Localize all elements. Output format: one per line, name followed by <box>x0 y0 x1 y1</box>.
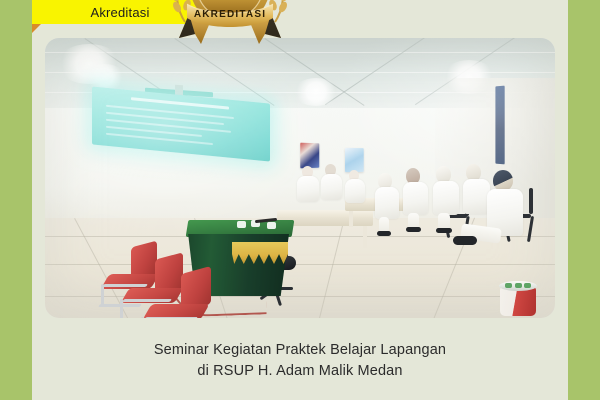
doorway <box>495 86 504 165</box>
seminar-photo <box>45 38 555 318</box>
ceiling-light <box>85 64 125 90</box>
ceiling-light <box>293 78 339 106</box>
participant-head <box>493 170 513 191</box>
wall-poster <box>300 143 319 169</box>
accreditation-seal: SEKALI AKREDITASI <box>155 0 305 50</box>
waste-bin <box>500 281 536 316</box>
wall-poster <box>345 148 364 172</box>
caption-line-1: Seminar Kegiatan Praktek Belajar Lapanga… <box>60 340 540 361</box>
ribbon-label: Akreditasi <box>90 5 149 20</box>
poster-canvas: Akreditasi <box>0 0 600 400</box>
right-green-bar <box>568 0 600 400</box>
ribbon-fold-triangle <box>32 24 41 33</box>
photo-scene <box>45 38 555 318</box>
seal-ribbon-text: AKREDITASI <box>194 9 266 20</box>
caption: Seminar Kegiatan Praktek Belajar Lapanga… <box>60 340 540 382</box>
participant-shoe <box>453 236 477 245</box>
left-green-bar <box>0 0 32 400</box>
caption-line-2: di RSUP H. Adam Malik Medan <box>60 361 540 382</box>
